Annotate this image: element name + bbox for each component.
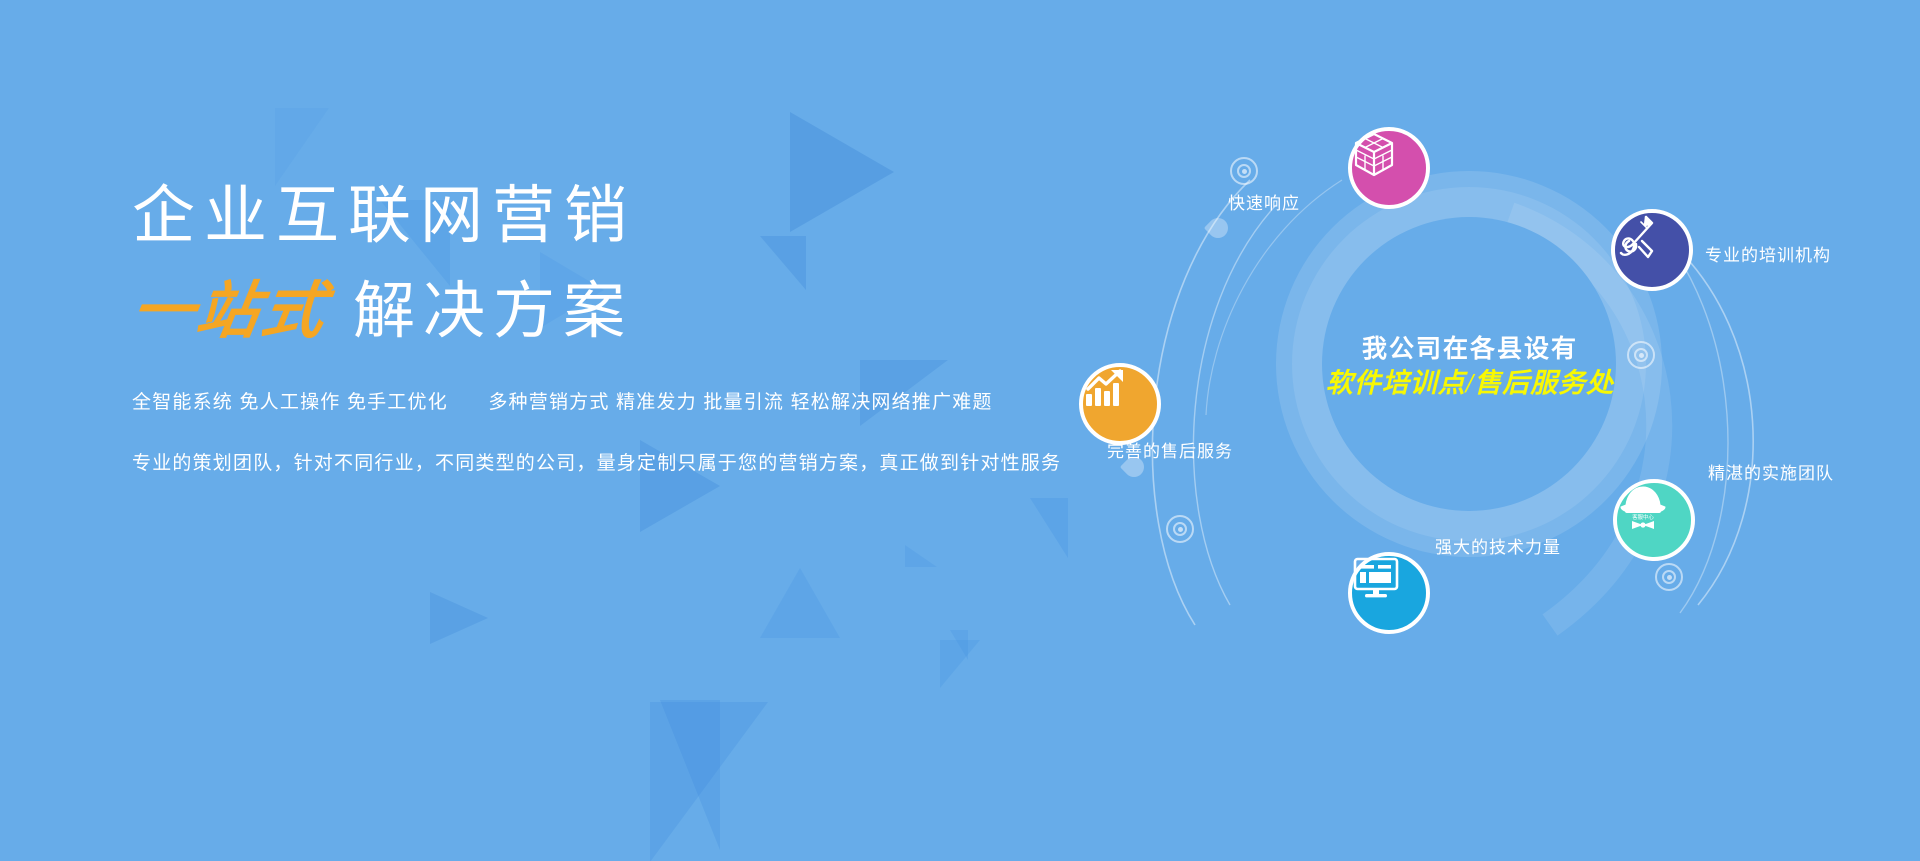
badge-quick-response[interactable] — [1348, 127, 1430, 209]
center-caption: 我公司在各县设有 软件培训点/售后服务处 — [1316, 333, 1624, 402]
center-caption-line-2: 软件培训点/售后服务处 — [1316, 366, 1624, 402]
feature-line-2: 专业的策划团队，针对不同行业，不同类型的公司，量身定制只属于您的营销方案，真正做… — [132, 448, 1092, 475]
target-marker-icon — [1230, 157, 1258, 185]
marketing-banner: 企业互联网营销 一站式解决方案 全智能系统 免人工操作 免手工优化 多种营销方式… — [0, 0, 1920, 861]
triangle-decor — [950, 630, 968, 660]
target-marker-icon — [1655, 563, 1683, 591]
badge-label-after-sales-service: 完善的售后服务 — [1107, 437, 1233, 462]
badge-implementation-team[interactable]: 客服中心 — [1613, 479, 1695, 561]
triangle-decor — [940, 640, 980, 688]
triangle-decor — [650, 702, 768, 861]
triangle-decor — [660, 700, 720, 850]
badge-training-institution[interactable] — [1611, 209, 1693, 291]
badge-label-technical-power: 强大的技术力量 — [1435, 533, 1561, 558]
triangle-decor — [275, 108, 329, 186]
headline-rest-text: 解决方案 — [353, 277, 633, 346]
headline-subline: 一站式解决方案 — [132, 281, 1092, 343]
badge-after-sales-service[interactable] — [1079, 363, 1161, 445]
page-title: 企业互联网营销 — [132, 185, 1092, 248]
headline-copy-block: 企业互联网营销 一站式解决方案 全智能系统 免人工操作 免手工优化 多种营销方式… — [132, 185, 1092, 475]
feature-line-1: 全智能系统 免人工操作 免手工优化 多种营销方式 精准发力 批量引流 轻松解决网… — [132, 387, 1092, 414]
triangle-decor — [905, 545, 937, 567]
triangle-decor — [1030, 498, 1068, 558]
svg-text:客服中心: 客服中心 — [1632, 513, 1654, 521]
badge-label-implementation-team: 精湛的实施团队 — [1708, 459, 1834, 484]
triangle-decor — [430, 592, 488, 644]
badge-label-quick-response: 快速响应 — [1228, 189, 1300, 214]
headline-accent-text: 一站式 — [127, 281, 332, 343]
badge-label-training-institution: 专业的培训机构 — [1705, 241, 1831, 266]
orbit-graphic: 我公司在各县设有 软件培训点/售后服务处 — [1080, 85, 1920, 775]
badge-technical-power[interactable] — [1348, 552, 1430, 634]
triangle-decor — [760, 568, 840, 638]
target-marker-icon — [1627, 341, 1655, 369]
center-caption-line-1: 我公司在各县设有 — [1316, 333, 1624, 366]
target-marker-icon — [1166, 515, 1194, 543]
orbit-arcs — [1080, 85, 1920, 775]
